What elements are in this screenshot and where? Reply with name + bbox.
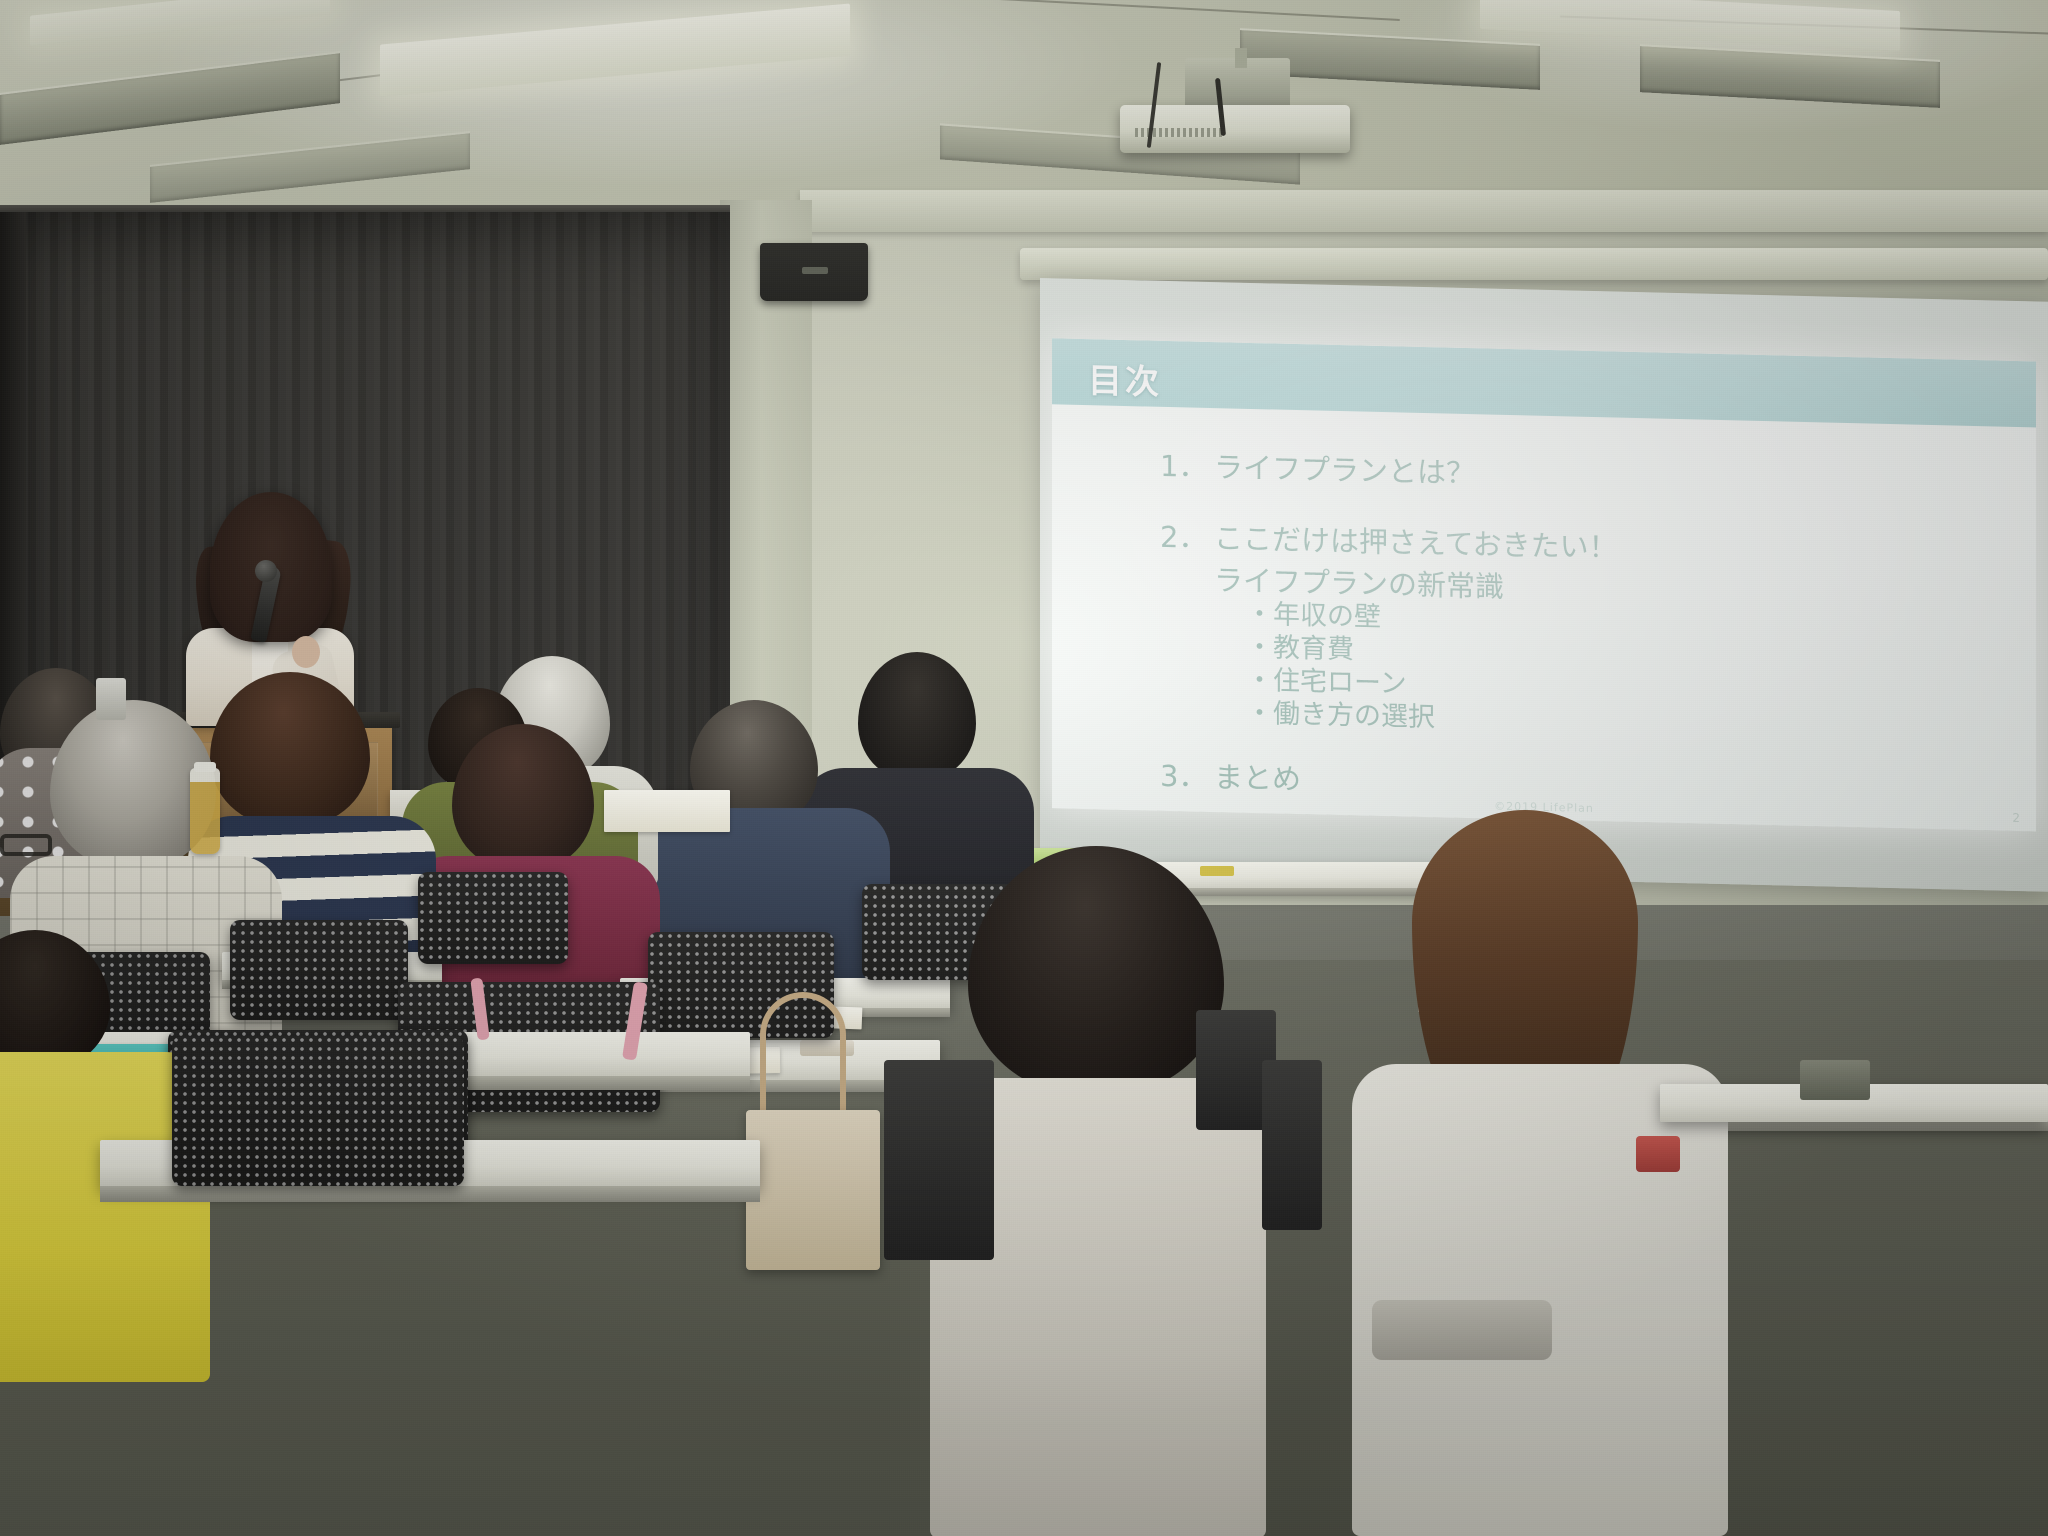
- chair: [418, 872, 568, 964]
- slide-body: 1．ライフプランとは？ 2．ここだけは押さえておきたい！ ライフプランの新常識 …: [1160, 449, 2006, 820]
- slide-title-bar: [1052, 338, 2036, 427]
- desk: [1150, 862, 1440, 890]
- chair: [230, 920, 408, 1020]
- slide: 目次 1．ライフプランとは？ 2．ここだけは押さえておきたい！ ライフプランの新…: [1052, 338, 2036, 831]
- tea-bottle: [190, 768, 220, 854]
- slide-item-3-text: まとめ: [1214, 760, 1301, 796]
- slide-item-2-number: 2．: [1160, 520, 1214, 557]
- chair: [172, 1036, 464, 1186]
- slide-page-number: 2: [2012, 811, 2020, 825]
- projection-screen: 目次 1．ライフプランとは？ 2．ここだけは押さえておきたい！ ライフプランの新…: [1040, 278, 2048, 892]
- screen-roller: [1020, 248, 2048, 280]
- eyeglasses: [0, 834, 52, 856]
- chair: [884, 1060, 994, 1260]
- wall-beam: [800, 190, 2048, 232]
- slide-title: 目次: [1088, 353, 1162, 404]
- desk-edge: [100, 1186, 760, 1202]
- bottle-cap: [194, 762, 216, 772]
- yellow-marker: [1200, 866, 1234, 876]
- seminar-room-photo: 目次 1．ライフプランとは？ 2．ここだけは押さえておきたい！ ライフプランの新…: [0, 0, 2048, 1536]
- slide-item-1-number: 1．: [1160, 449, 1214, 486]
- slide-item-1-text: ライフプランとは？: [1214, 450, 1475, 490]
- paper-handout: [604, 790, 730, 832]
- red-object: [1636, 1136, 1680, 1172]
- desk-item: [1800, 1060, 1870, 1100]
- tote-bag: [746, 1110, 880, 1270]
- tote-bag-handle: [760, 992, 846, 1122]
- chair: [1262, 1060, 1322, 1230]
- projector-arm: [1235, 48, 1247, 68]
- slide-item-3-number: 3．: [1160, 759, 1214, 796]
- smartphone: [96, 678, 126, 720]
- attendee-shoulder: [1372, 1300, 1552, 1360]
- wall-speaker: [760, 243, 868, 301]
- presenter-hand: [292, 636, 320, 668]
